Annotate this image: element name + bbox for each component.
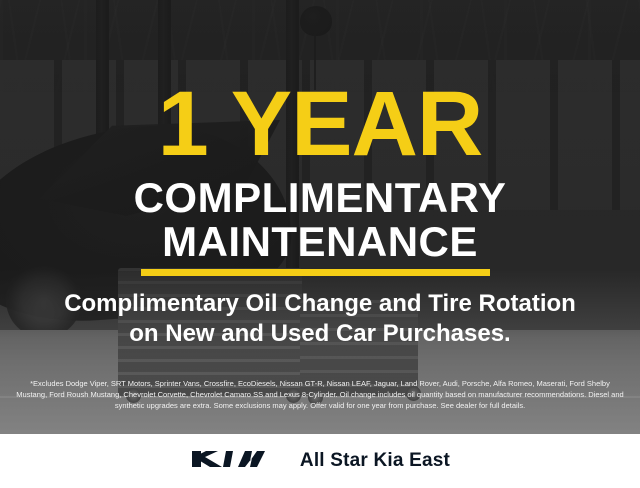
dealer-footer: All Star Kia East (0, 434, 640, 488)
banner-copy: 1 YEAR COMPLIMENTARY MAINTENANCE Complim… (0, 0, 640, 488)
headline-complimentary: COMPLIMENTARY (0, 177, 640, 219)
headline-year: 1 YEAR (0, 78, 640, 170)
service-offer-banner: 1 YEAR COMPLIMENTARY MAINTENANCE Complim… (0, 0, 640, 488)
subheadline-line-2: on New and Used Car Purchases. (0, 319, 640, 349)
yellow-divider-rule (141, 269, 490, 276)
kia-logo-icon (190, 446, 280, 477)
dealer-name: All Star Kia East (300, 450, 450, 472)
headline-maintenance: MAINTENANCE (0, 221, 640, 263)
subheadline: Complimentary Oil Change and Tire Rotati… (0, 289, 640, 349)
disclaimer-text: *Excludes Dodge Viper, SRT Motors, Sprin… (14, 378, 626, 411)
subheadline-line-1: Complimentary Oil Change and Tire Rotati… (0, 289, 640, 319)
